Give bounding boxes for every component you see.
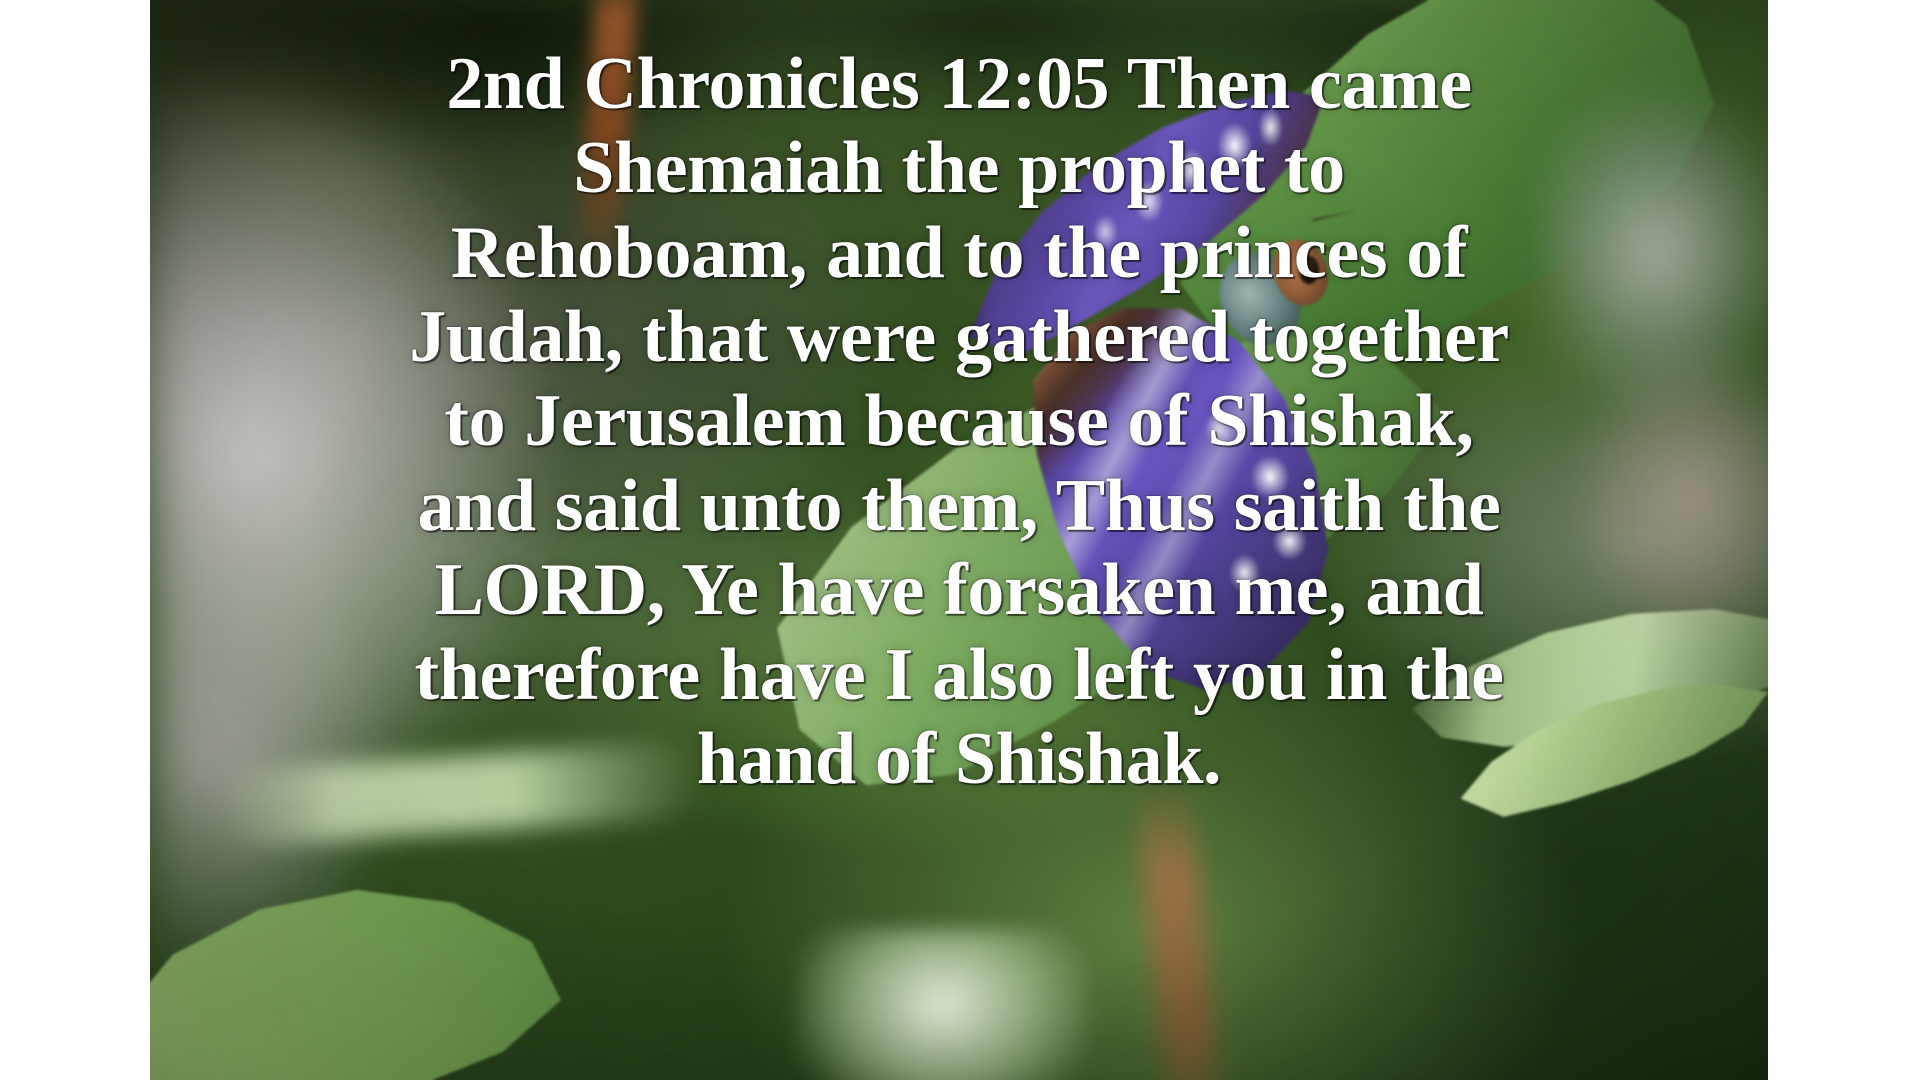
- verse-line: Judah, that were gathered together: [236, 295, 1682, 379]
- verse-line: LORD, Ye have forsaken me, and: [236, 548, 1682, 632]
- slide-stage: 2nd Chronicles 12:05 Then cameShemaiah t…: [0, 0, 1920, 1080]
- verse-line: therefore have I also left you in the: [236, 633, 1682, 717]
- verse-line: to Jerusalem because of Shishak,: [236, 379, 1682, 463]
- verse-text: 2nd Chronicles 12:05 Then cameShemaiah t…: [236, 42, 1682, 801]
- verse-line: and said unto them, Thus saith the: [236, 464, 1682, 548]
- bokeh-bottom-center: [797, 929, 1088, 1080]
- verse-line: 2nd Chronicles 12:05 Then came: [236, 42, 1682, 126]
- verse-line: Shemaiah the prophet to: [236, 126, 1682, 210]
- verse-line: Rehoboam, and to the princes of: [236, 211, 1682, 295]
- verse-line: hand of Shishak.: [236, 717, 1682, 801]
